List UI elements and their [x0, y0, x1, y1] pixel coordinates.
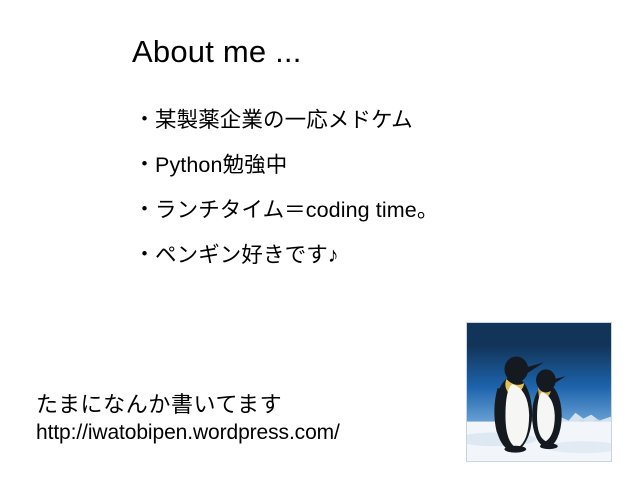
bullet-dot-icon: ・	[134, 149, 155, 181]
list-item-label: ペンギン好きです♪	[155, 239, 339, 271]
list-item: ・ Python勉強中	[134, 149, 564, 194]
list-item-label: 某製薬企業の一応メドケム	[155, 104, 413, 136]
list-item: ・ ランチタイム＝coding time。	[134, 194, 564, 239]
list-item: ・ ペンギン好きです♪	[134, 239, 564, 284]
footer-note: たまになんか書いてます	[36, 390, 456, 419]
bullet-dot-icon: ・	[134, 194, 155, 226]
list-item-label: ランチタイム＝coding time。	[155, 194, 438, 226]
list-item-label: Python勉強中	[155, 149, 287, 181]
list-item: ・ 某製薬企業の一応メドケム	[134, 104, 564, 149]
bullet-dot-icon: ・	[134, 104, 155, 136]
page-title: About me ...	[132, 33, 302, 71]
bullet-dot-icon: ・	[134, 239, 155, 271]
penguin-photo-graphic	[467, 323, 611, 461]
footer-text-block: たまになんか書いてます http://iwatobipen.wordpress.…	[36, 390, 456, 446]
penguin-photo	[466, 322, 612, 462]
bullet-list: ・ 某製薬企業の一応メドケム ・ Python勉強中 ・ ランチタイム＝codi…	[134, 104, 564, 284]
blog-url-link[interactable]: http://iwatobipen.wordpress.com/	[36, 419, 456, 446]
slide-canvas: About me ... ・ 某製薬企業の一応メドケム ・ Python勉強中 …	[0, 0, 640, 480]
